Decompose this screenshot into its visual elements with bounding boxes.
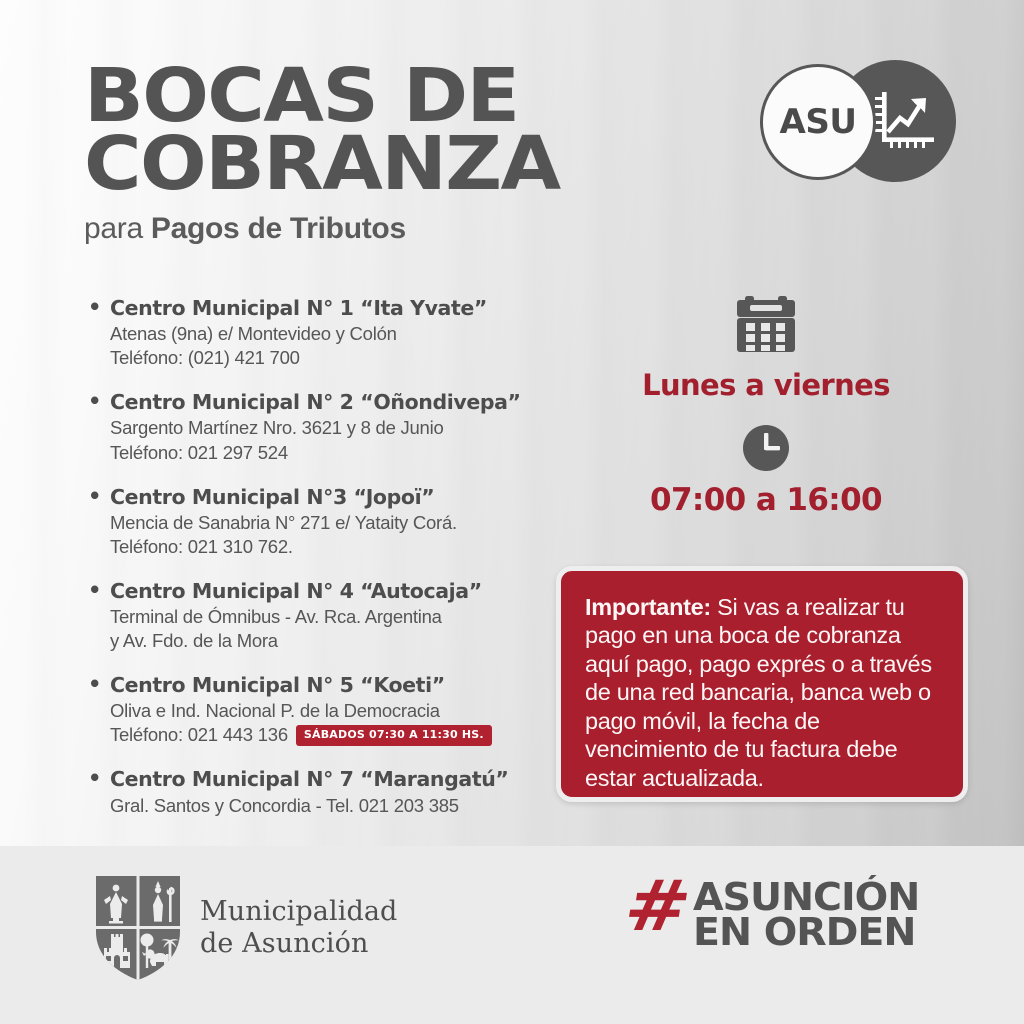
campaign-hashtag: # ASUNCIÓN EN ORDEN (630, 878, 910, 950)
calendar-icon (735, 296, 797, 354)
poster-footer: Municipalidad de Asunción # ASUNCIÓN EN … (0, 846, 1024, 1024)
page-title-line-1: BOCAS DE (84, 62, 560, 130)
page-title-line-2: COBRANZA (84, 130, 560, 198)
centro-phone: Teléfono: 021 297 524 (110, 441, 556, 465)
list-item: Centro Municipal N°3 “Jopoï” Mencia de S… (86, 485, 556, 559)
poster-canvas: BOCAS DE COBRANZA para Pagos de Tributos (0, 0, 1024, 1024)
centro-address: Atenas (9na) e/ Montevideo y Colón (110, 322, 556, 346)
important-notice-box: Importante: Si vas a realizar tu pago en… (556, 566, 968, 802)
hashtag-symbol: # (621, 878, 694, 934)
centro-address: Gral. Santos y Concordia - Tel. 021 203 … (110, 794, 556, 818)
centro-details: Terminal de Ómnibus - Av. Rca. Argentina… (86, 605, 556, 653)
centro-details: Mencia de Sanabria N° 271 e/ Yataity Cor… (86, 511, 556, 559)
important-body: Si vas a realizar tu pago en una boca de… (585, 594, 932, 791)
page-subtitle: para Pagos de Tributos (84, 212, 533, 246)
page-subtitle-light: para (84, 212, 151, 245)
asu-logo: ASU (760, 60, 956, 188)
centro-phone: Teléfono: (021) 421 700 (110, 346, 556, 370)
asu-logo-text: ASU (780, 102, 857, 142)
list-item: Centro Municipal N° 4 “Autocaja” Termina… (86, 579, 556, 653)
municipality-brand: Municipalidad de Asunción (92, 874, 397, 982)
collection-points-list: Centro Municipal N° 1 “Ita Yvate” Atenas… (86, 296, 556, 818)
campaign-line-2: EN ORDEN (693, 915, 919, 950)
important-notice-text: Importante: Si vas a realizar tu pago en… (585, 593, 941, 792)
municipality-name-line-2: de Asunción (200, 928, 397, 960)
campaign-words: ASUNCIÓN EN ORDEN (693, 880, 919, 950)
centro-address: Terminal de Ómnibus - Av. Rca. Argentina (110, 605, 556, 629)
centro-phone-row: Teléfono: 021 443 136SÁBADOS 07:30 A 11:… (110, 723, 556, 747)
calendar-icon-wrap (596, 296, 936, 354)
municipality-name-line-1: Municipalidad (200, 896, 397, 928)
municipal-coat-of-arms-icon (92, 874, 184, 982)
centro-address: Sargento Martínez Nro. 3621 y 8 de Junio (110, 416, 556, 440)
schedule-days: Lunes a viernes (596, 368, 936, 402)
asu-logo-white-circle: ASU (760, 64, 876, 180)
centro-name: Centro Municipal N° 4 “Autocaja” (86, 579, 556, 603)
schedule-hours: 07:00 a 16:00 (596, 482, 936, 518)
page-subtitle-bold: Pagos de Tributos (151, 212, 406, 245)
municipality-name: Municipalidad de Asunción (200, 896, 397, 960)
centro-address: Mencia de Sanabria N° 271 e/ Yataity Cor… (110, 511, 556, 535)
list-item: Centro Municipal N° 1 “Ita Yvate” Atenas… (86, 296, 556, 370)
centro-details: Gral. Santos y Concordia - Tel. 021 203 … (86, 794, 556, 818)
centro-details: Oliva e Ind. Nacional P. de la Democraci… (86, 699, 556, 747)
centro-name: Centro Municipal N° 5 “Koeti” (86, 673, 556, 697)
centro-name: Centro Municipal N°3 “Jopoï” (86, 485, 556, 509)
centro-address: Oliva e Ind. Nacional P. de la Democraci… (110, 699, 556, 723)
schedule-block: Lunes a viernes 07:00 a 16:00 (596, 296, 936, 518)
clock-icon-wrap (596, 424, 936, 472)
list-item: Centro Municipal N° 2 “Oñondivepa” Sarge… (86, 390, 556, 464)
centro-name: Centro Municipal N° 2 “Oñondivepa” (86, 390, 556, 414)
centro-details: Atenas (9na) e/ Montevideo y Colón Teléf… (86, 322, 556, 370)
saturday-hours-badge: SÁBADOS 07:30 A 11:30 HS. (296, 725, 492, 745)
list-item: Centro Municipal N° 5 “Koeti” Oliva e In… (86, 673, 556, 747)
growth-chart-icon (868, 88, 938, 154)
clock-icon (742, 424, 790, 472)
centro-phone: y Av. Fdo. de la Mora (110, 629, 556, 653)
important-label: Importante: (585, 594, 711, 620)
centro-details: Sargento Martínez Nro. 3621 y 8 de Junio… (86, 416, 556, 464)
list-item: Centro Municipal N° 7 “Marangatú” Gral. … (86, 767, 556, 817)
centro-phone: Teléfono: 021 310 762. (110, 535, 556, 559)
centro-name: Centro Municipal N° 7 “Marangatú” (86, 767, 556, 791)
poster-header: BOCAS DE COBRANZA para Pagos de Tributos (84, 62, 533, 246)
centro-name: Centro Municipal N° 1 “Ita Yvate” (86, 296, 556, 320)
centro-phone: Teléfono: 021 443 136 (110, 724, 288, 745)
